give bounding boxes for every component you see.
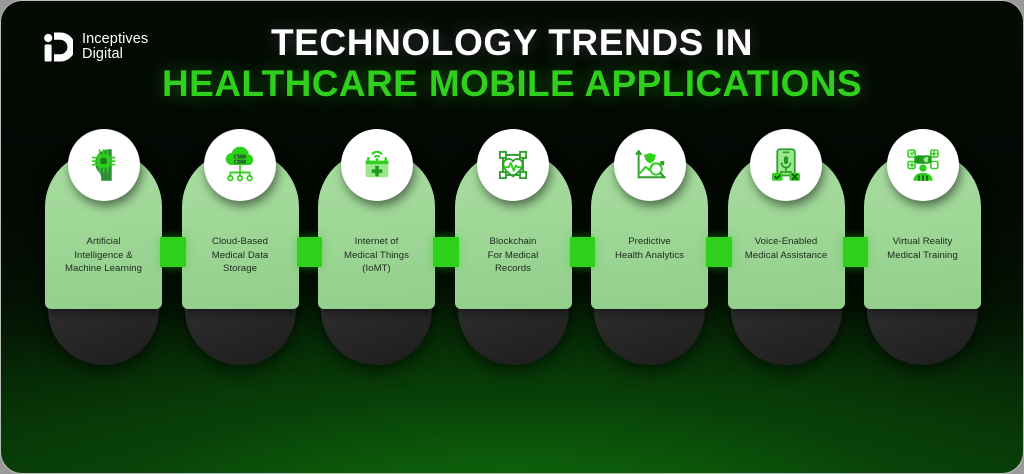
card-label: Predictive Health Analytics: [597, 235, 702, 262]
connector-bar-4: [570, 237, 596, 267]
phone-microphone-icon: [765, 144, 807, 186]
card-label: Voice-Enabled Medical Assistance: [734, 235, 839, 262]
chart-magnifier-shield-icon: [629, 144, 671, 186]
ai-brain-chip-icon: [83, 144, 125, 186]
blockchain-heartbeat-icon: [492, 144, 534, 186]
title-line-primary: TECHNOLOGY TRENDS IN: [1, 23, 1023, 63]
title-line-accent: HEALTHCARE MOBILE APPLICATIONS: [1, 64, 1023, 104]
trend-card-7[interactable]: Virtual Reality Medical Training: [864, 129, 981, 359]
trend-card-1[interactable]: Artificial Intelligence & Machine Learni…: [45, 129, 162, 359]
trend-card-6[interactable]: Voice-Enabled Medical Assistance: [728, 129, 845, 359]
card-icon-bubble: [341, 129, 413, 201]
connector-bar-2: [297, 237, 323, 267]
connector-bar-3: [433, 237, 459, 267]
trend-card-5[interactable]: Predictive Health Analytics: [591, 129, 708, 359]
card-icon-bubble: [887, 129, 959, 201]
trend-card-3[interactable]: Internet of Medical Things (IoMT): [318, 129, 435, 359]
card-label: Internet of Medical Things (IoMT): [324, 235, 429, 276]
trend-card-2[interactable]: Cloud-Based Medical Data Storage: [182, 129, 299, 359]
connector-bar-1: [160, 237, 186, 267]
card-label: Blockchain For Medical Records: [461, 235, 566, 276]
card-label: Artificial Intelligence & Machine Learni…: [51, 235, 156, 276]
vr-headset-icon: [902, 144, 944, 186]
card-icon-bubble: [68, 129, 140, 201]
card-icon-bubble: [204, 129, 276, 201]
medical-kit-wifi-icon: [356, 144, 398, 186]
card-icon-bubble: [477, 129, 549, 201]
cloud-server-icon: [219, 144, 261, 186]
connector-bar-6: [843, 237, 869, 267]
card-label: Virtual Reality Medical Training: [870, 235, 975, 262]
card-icon-bubble: [750, 129, 822, 201]
connector-bar-5: [706, 237, 732, 267]
card-icon-bubble: [614, 129, 686, 201]
trend-card-4[interactable]: Blockchain For Medical Records: [455, 129, 572, 359]
card-label: Cloud-Based Medical Data Storage: [188, 235, 293, 276]
infographic-poster: Inceptives Digital TECHNOLOGY TRENDS IN …: [0, 0, 1024, 474]
page-title: TECHNOLOGY TRENDS IN HEALTHCARE MOBILE A…: [1, 23, 1023, 104]
